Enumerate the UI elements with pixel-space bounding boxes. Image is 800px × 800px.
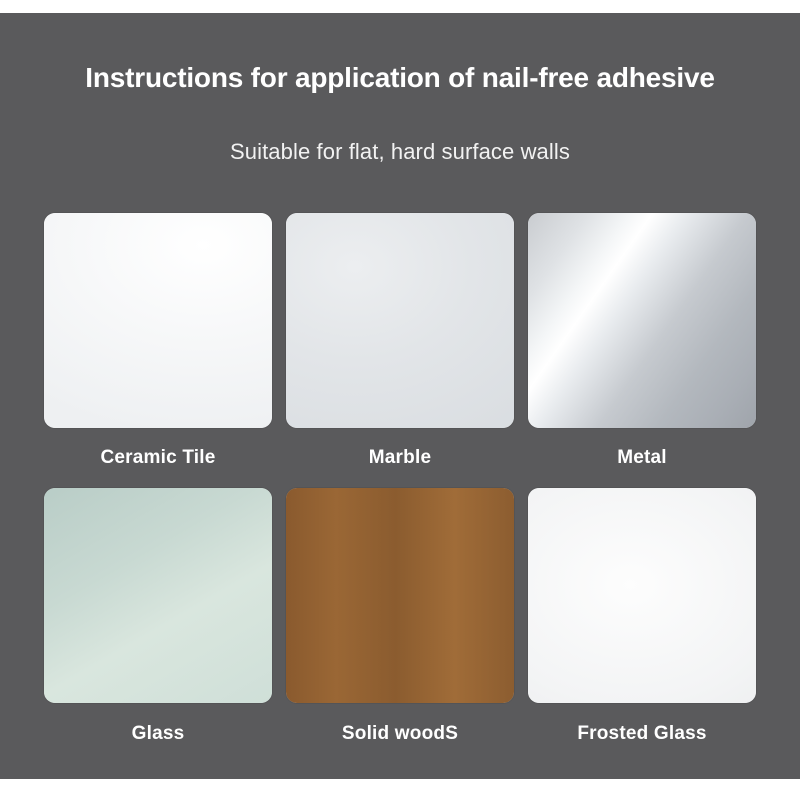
frosted-glass-swatch xyxy=(528,488,756,703)
ceramic-veining xyxy=(44,213,272,428)
glass-light-spots xyxy=(44,488,272,703)
surface-label-metal: Metal xyxy=(528,428,756,488)
marble-swatch xyxy=(286,213,514,428)
surface-label-ceramic-tile: Ceramic Tile xyxy=(44,428,272,488)
surface-label-solid-wood: Solid woodS xyxy=(286,703,514,765)
glass-swatch xyxy=(44,488,272,703)
surface-grid: Ceramic Tile Marble xyxy=(44,213,756,765)
surface-cell-ceramic-tile: Ceramic Tile xyxy=(44,213,272,488)
metal-vignette xyxy=(528,213,756,428)
surface-cell-frosted-glass: Frosted Glass xyxy=(528,488,756,765)
surface-cell-marble: Marble xyxy=(286,213,514,488)
page-subtitle: Suitable for flat, hard surface walls xyxy=(0,139,800,165)
surface-label-glass: Glass xyxy=(44,703,272,765)
marble-dark-patches xyxy=(286,213,514,428)
infographic-page: Instructions for application of nail-fre… xyxy=(0,0,800,800)
wood-shading xyxy=(286,488,514,703)
surface-cell-solid-wood: Solid woodS xyxy=(286,488,514,765)
solid-wood-swatch xyxy=(286,488,514,703)
surface-label-frosted-glass: Frosted Glass xyxy=(528,703,756,765)
ceramic-tile-swatch xyxy=(44,213,272,428)
metal-swatch xyxy=(528,213,756,428)
page-title: Instructions for application of nail-fre… xyxy=(0,62,800,94)
surface-label-marble: Marble xyxy=(286,428,514,488)
surface-cell-glass: Glass xyxy=(44,488,272,765)
surface-cell-metal: Metal xyxy=(528,213,756,488)
frosted-sheen xyxy=(528,488,756,703)
